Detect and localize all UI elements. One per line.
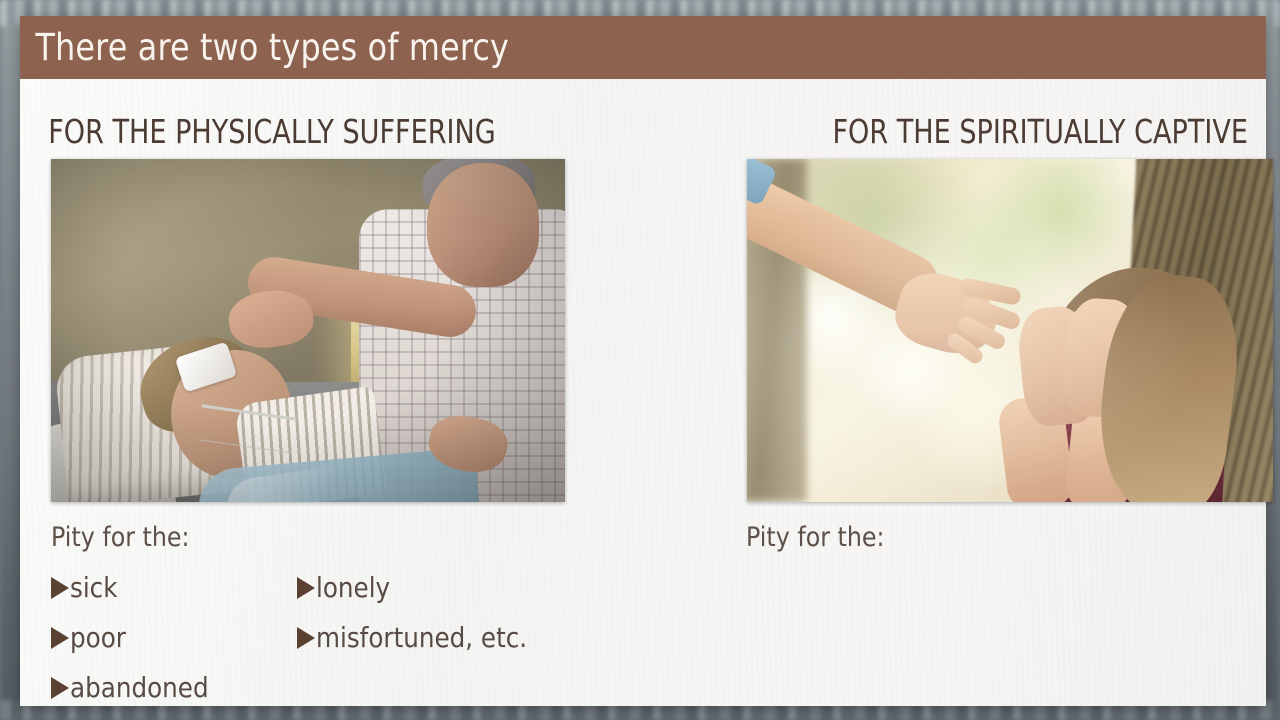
triangle-bullet-icon (51, 577, 69, 599)
triangle-bullet-icon (51, 627, 69, 649)
bullet-label: poor (70, 624, 126, 652)
photo-spiritually-captive (747, 159, 1273, 502)
list-item: abandoned (51, 663, 228, 713)
caption-right: Pity for the: (746, 524, 1204, 551)
triangle-bullet-icon (297, 577, 315, 599)
column-heading-right: FOR THE SPIRITUALLY CAPTIVE (826, 79, 1266, 148)
column-physically-suffering: FOR THE PHYSICALLY SUFFERING (31, 79, 571, 563)
slide-body-panel: FOR THE PHYSICALLY SUFFERING (20, 79, 1266, 706)
photo-sun-glow (747, 159, 1273, 502)
slide-title-bar: There are two types of mercy (20, 16, 1266, 79)
bullet-label: lonely (316, 574, 390, 602)
list-item: misfortuned, etc. (297, 613, 556, 663)
triangle-bullet-icon (297, 627, 315, 649)
column-spiritually-captive: FOR THE SPIRITUALLY CAPTIVE (729, 79, 1266, 551)
list-item: poor (51, 613, 228, 663)
slide-title: There are two types of mercy (20, 26, 509, 69)
list-item: lonely (297, 563, 556, 613)
list-item: sick (51, 563, 228, 613)
column-heading-left: FOR THE PHYSICALLY SUFFERING (31, 79, 474, 148)
photo-physically-suffering (51, 159, 565, 502)
bullet-column-2: lonely misfortuned, etc. (297, 563, 556, 663)
bullet-column-1: sick poor abandoned (51, 563, 228, 713)
triangle-bullet-icon (51, 677, 69, 699)
slide-card: There are two types of mercy FOR THE PHY… (20, 16, 1266, 706)
bullet-label: abandoned (70, 674, 209, 702)
bullet-label: sick (70, 574, 118, 602)
photo-vignette (51, 159, 565, 502)
bullet-label: misfortuned, etc. (316, 624, 527, 652)
caption-left: Pity for the: (51, 524, 509, 551)
